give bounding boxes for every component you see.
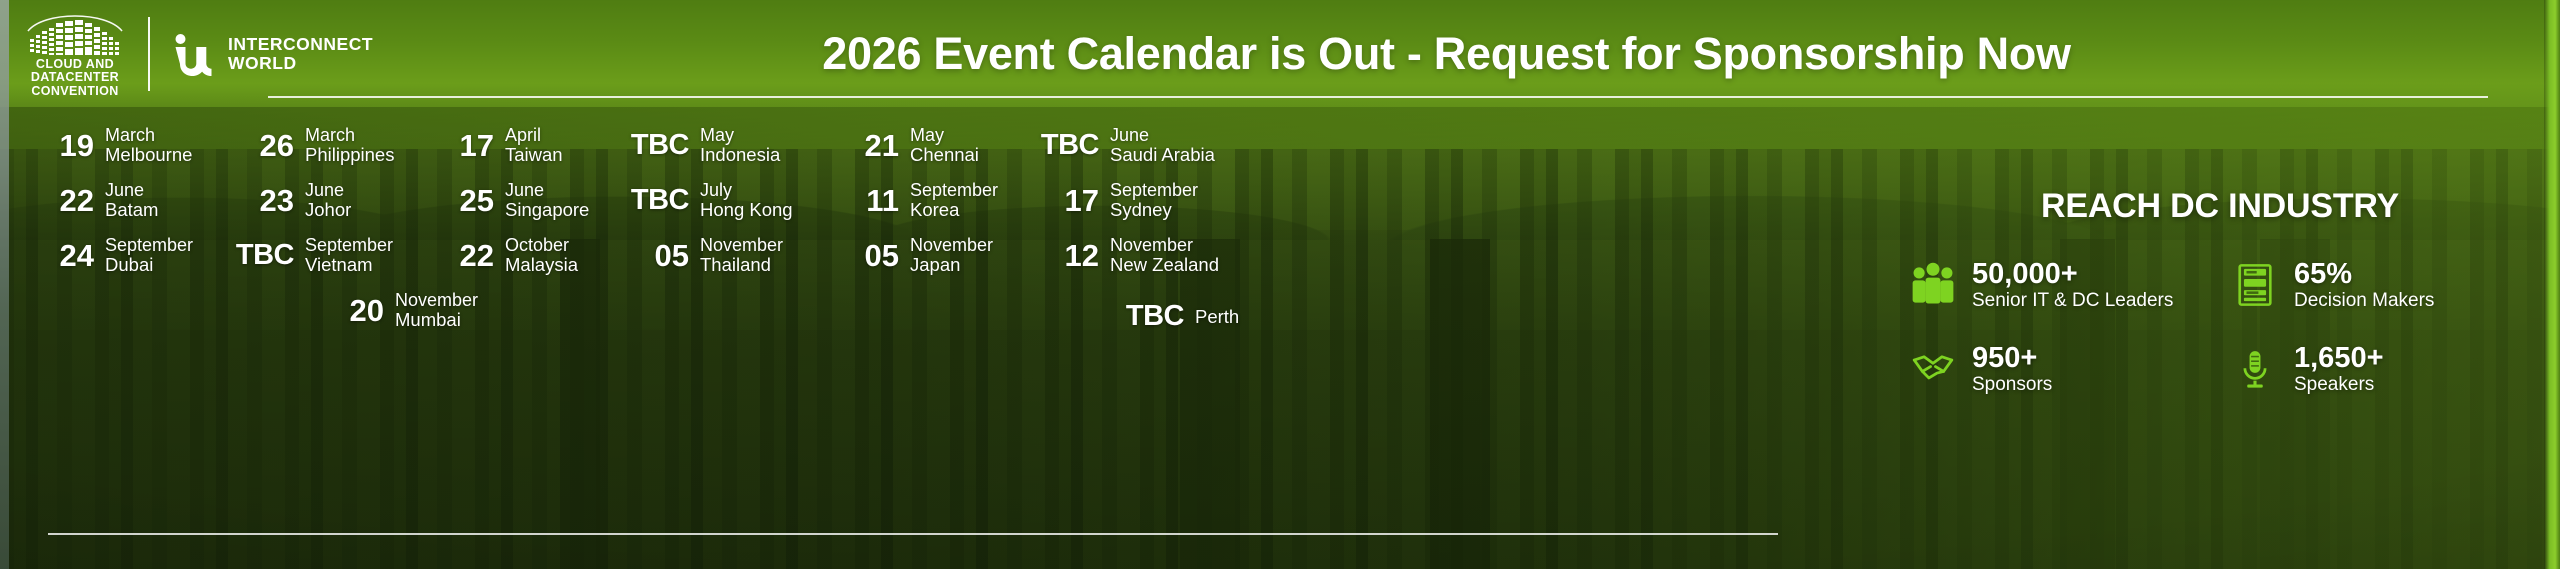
stat-number: 1,650+ — [2294, 343, 2384, 374]
calendar-row-3: 24 September Dubai TBC September Vietnam… — [28, 236, 1860, 291]
stat-number: 65% — [2294, 259, 2434, 290]
cdc-logo-line-2: DATACENTER — [31, 71, 119, 85]
event-day: 25 — [428, 185, 494, 216]
event-month: July — [700, 181, 793, 200]
cdc-logo-text: CLOUD AND DATACENTER CONVENTION — [31, 58, 119, 99]
event-month: June — [305, 181, 351, 200]
event-day: 05 — [833, 240, 899, 271]
event-place: Taiwan — [505, 145, 563, 165]
event-day: 22 — [28, 185, 94, 216]
event-calendar-banner: CLOUD AND DATACENTER CONVENTION INTERCON… — [0, 0, 2560, 569]
cloud-datacenter-convention-logo: CLOUD AND DATACENTER CONVENTION — [20, 9, 130, 99]
event-day: 21 — [833, 130, 899, 161]
iw-logo-text: INTERCONNECT WORLD — [228, 35, 373, 73]
calendar-row-2: 22 June Batam 23 June Johor 25 June Sing… — [28, 181, 1860, 236]
event-month: June — [105, 181, 158, 200]
event-place: Korea — [910, 200, 998, 220]
event-place: Sydney — [1110, 200, 1198, 220]
event-place: Malaysia — [505, 255, 578, 275]
event-item[interactable]: 25 June Singapore — [428, 181, 623, 220]
event-place: Batam — [105, 200, 158, 220]
event-month: September — [910, 181, 998, 200]
event-month: June — [505, 181, 589, 200]
event-item[interactable]: TBC Perth — [1118, 301, 1239, 332]
header-underline — [268, 96, 2488, 98]
server-rack-icon — [2228, 258, 2282, 312]
event-day: 05 — [623, 240, 689, 271]
event-item[interactable]: 26 March Philippines — [228, 126, 428, 165]
event-item[interactable]: TBC June Saudi Arabia — [1033, 126, 1253, 165]
event-item[interactable]: 17 April Taiwan — [428, 126, 623, 165]
calendar-row-4: 20 November Mumbai TBC Perth — [28, 291, 1860, 349]
event-place: Dubai — [105, 255, 193, 275]
stat-item: 950+ Sponsors — [1906, 342, 2218, 396]
event-place: Hong Kong — [700, 200, 793, 220]
event-day: 12 — [1033, 240, 1099, 271]
stat-grid: 50,000+ Senior IT & DC Leaders — [1900, 258, 2540, 396]
stat-label: Sponsors — [1972, 374, 2052, 396]
event-month: November — [1110, 236, 1219, 255]
interconnect-world-logo: INTERCONNECT WORLD — [172, 32, 373, 76]
event-month: April — [505, 126, 563, 145]
event-month: November — [910, 236, 993, 255]
event-month: May — [910, 126, 979, 145]
event-day: TBC — [623, 130, 689, 161]
event-place: Perth — [1195, 307, 1239, 327]
microphone-icon — [2228, 342, 2282, 396]
event-day: TBC — [623, 185, 689, 216]
event-place: Japan — [910, 255, 993, 275]
event-item[interactable]: 21 May Chennai — [833, 126, 1033, 165]
stat-number: 950+ — [1972, 343, 2052, 374]
event-place: Singapore — [505, 200, 589, 220]
iw-logo-line-2: WORLD — [228, 54, 373, 73]
event-place: Philippines — [305, 145, 394, 165]
event-day: 22 — [428, 240, 494, 271]
event-place: New Zealand — [1110, 255, 1219, 275]
event-calendar-grid: 19 March Melbourne 26 March Philippines … — [0, 108, 1860, 538]
event-day: 19 — [28, 130, 94, 161]
event-place: Indonesia — [700, 145, 780, 165]
people-group-icon — [1906, 258, 1960, 312]
stat-item: 50,000+ Senior IT & DC Leaders — [1906, 258, 2218, 312]
event-month: September — [105, 236, 193, 255]
stat-label: Decision Makers — [2294, 290, 2434, 312]
stat-item: 65% Decision Makers — [2228, 258, 2540, 312]
event-item[interactable]: 05 November Japan — [833, 236, 1033, 275]
banner-header: CLOUD AND DATACENTER CONVENTION INTERCON… — [0, 0, 2560, 107]
event-day: TBC — [1033, 130, 1099, 161]
event-place: Melbourne — [105, 145, 192, 165]
event-day: TBC — [1118, 301, 1184, 332]
event-place: Saudi Arabia — [1110, 145, 1215, 165]
stat-number: 50,000+ — [1972, 259, 2173, 290]
calendar-row-1: 19 March Melbourne 26 March Philippines … — [28, 126, 1860, 181]
cdc-logo-line-3: CONVENTION — [31, 85, 119, 99]
event-item[interactable]: 12 November New Zealand — [1033, 236, 1253, 275]
stat-label: Speakers — [2294, 374, 2384, 396]
event-month: November — [395, 291, 478, 310]
event-day: TBC — [228, 240, 294, 271]
reach-dc-industry-panel: REACH DC INDUSTRY 50,000+ Senior IT & DC… — [1900, 112, 2540, 532]
event-month: March — [305, 126, 394, 145]
event-place: Chennai — [910, 145, 979, 165]
event-item[interactable]: TBC May Indonesia — [623, 126, 833, 165]
handshake-icon — [1906, 342, 1960, 396]
event-place: Mumbai — [395, 310, 478, 330]
iw-monogram-icon — [172, 32, 218, 76]
event-day: 17 — [428, 130, 494, 161]
event-item[interactable]: TBC September Vietnam — [228, 236, 428, 275]
page-title: 2026 Event Calendar is Out - Request for… — [373, 28, 2520, 80]
event-item[interactable]: 20 November Mumbai — [318, 291, 478, 330]
stat-label: Senior IT & DC Leaders — [1972, 290, 2173, 312]
event-item[interactable]: 22 June Batam — [28, 181, 228, 220]
event-day: 23 — [228, 185, 294, 216]
event-item[interactable]: 19 March Melbourne — [28, 126, 228, 165]
event-day: 17 — [1033, 185, 1099, 216]
event-place: Thailand — [700, 255, 783, 275]
event-day: 26 — [228, 130, 294, 161]
iw-logo-line-1: INTERCONNECT — [228, 35, 373, 54]
event-item[interactable]: TBC July Hong Kong — [623, 181, 833, 220]
stat-item: 1,650+ Speakers — [2228, 342, 2540, 396]
event-month: November — [700, 236, 783, 255]
event-day: 24 — [28, 240, 94, 271]
event-item[interactable]: 05 November Thailand — [623, 236, 833, 275]
event-item[interactable]: 22 October Malaysia — [428, 236, 623, 275]
event-month: September — [305, 236, 393, 255]
headline-block: 2026 Event Calendar is Out - Request for… — [373, 28, 2560, 80]
event-month: September — [1110, 181, 1198, 200]
event-day: 20 — [318, 295, 384, 326]
event-place: Vietnam — [305, 255, 393, 275]
logo-divider — [148, 17, 150, 91]
event-item[interactable]: 23 June Johor — [228, 181, 428, 220]
cdc-logo-line-1: CLOUD AND — [31, 58, 119, 72]
event-month: October — [505, 236, 578, 255]
event-item[interactable]: 11 September Korea — [833, 181, 1033, 220]
event-item[interactable]: 17 September Sydney — [1033, 181, 1253, 220]
event-item[interactable]: 24 September Dubai — [28, 236, 228, 275]
event-month: June — [1110, 126, 1215, 145]
event-month: May — [700, 126, 780, 145]
logo-lockup: CLOUD AND DATACENTER CONVENTION INTERCON… — [20, 9, 373, 99]
event-place: Johor — [305, 200, 351, 220]
datacenter-skyline-icon — [22, 9, 128, 55]
reach-title: REACH DC INDUSTRY — [1900, 187, 2540, 226]
event-day: 11 — [833, 185, 899, 216]
event-month: March — [105, 126, 192, 145]
